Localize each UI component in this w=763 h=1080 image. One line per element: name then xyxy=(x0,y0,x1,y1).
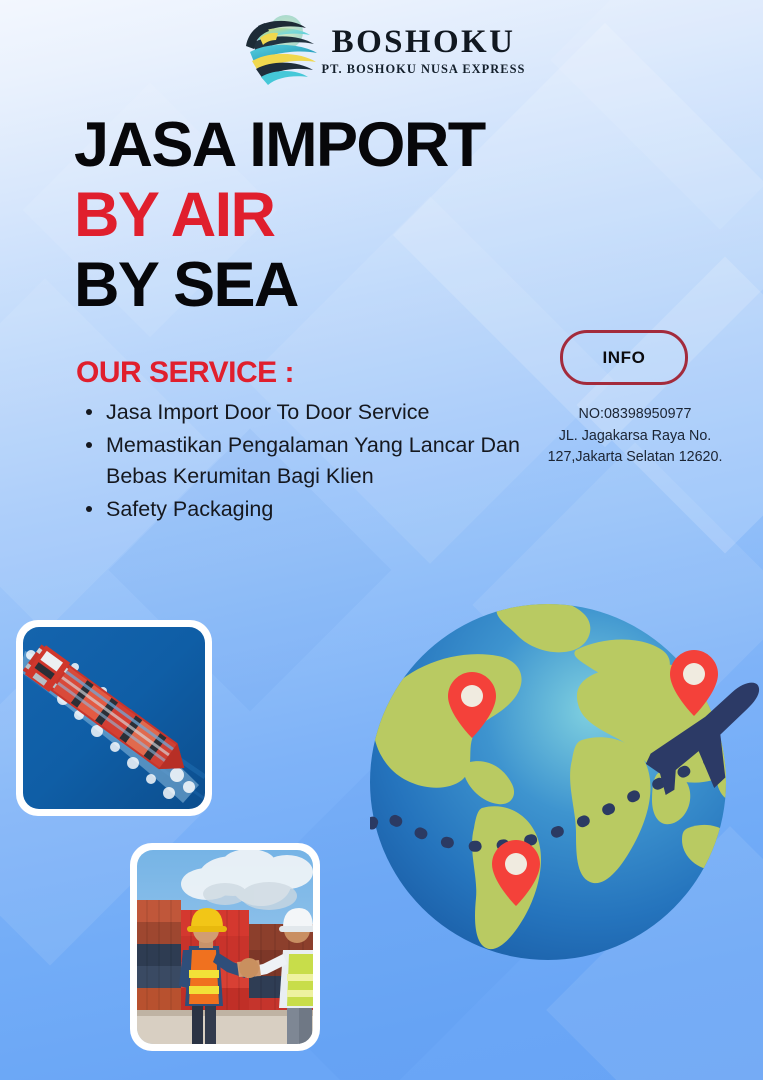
services-list: Jasa Import Door To Door Service Memasti… xyxy=(76,397,546,525)
dock-workers-photo-card xyxy=(130,843,320,1051)
contact-address-line-2: 127,Jakarta Selatan 12620. xyxy=(510,447,760,469)
list-item: Jasa Import Door To Door Service xyxy=(76,397,546,428)
container-ship-photo xyxy=(23,627,205,809)
brand-tagline: PT. BOSHOKU NUSA EXPRESS xyxy=(322,62,526,77)
headline-line-1: JASA IMPORT xyxy=(74,114,485,176)
list-item: Safety Packaging xyxy=(76,494,546,525)
contact-details: NO:08398950977 JL. Jagakarsa Raya No. 12… xyxy=(510,404,760,469)
headline-line-3: BY SEA xyxy=(74,254,485,316)
globe-illustration xyxy=(370,592,763,982)
container-ship-photo-card xyxy=(16,620,212,816)
dock-workers-photo xyxy=(137,850,313,1044)
list-item: Memastikan Pengalaman Yang Lancar Dan Be… xyxy=(76,430,546,492)
services-block: OUR SERVICE : Jasa Import Door To Door S… xyxy=(76,356,546,527)
brand-logo-text: BOSHOKU PT. BOSHOKU NUSA EXPRESS xyxy=(322,26,526,77)
services-title: OUR SERVICE : xyxy=(76,356,546,390)
contact-phone: NO:08398950977 xyxy=(510,404,760,426)
boshoku-wave-logo-icon xyxy=(238,12,320,90)
contact-address-line-1: JL. Jagakarsa Raya No. xyxy=(510,426,760,448)
info-button-label: INFO xyxy=(602,348,645,368)
headline-line-2: BY AIR xyxy=(74,184,485,246)
brand-name: BOSHOKU xyxy=(332,26,516,59)
info-button[interactable]: INFO xyxy=(560,330,688,385)
dock-workers-handshake-illustration xyxy=(137,850,313,1044)
container-ship-aerial-illustration xyxy=(23,627,205,809)
brand-logo: BOSHOKU PT. BOSHOKU NUSA EXPRESS xyxy=(0,12,763,90)
poster-canvas: BOSHOKU PT. BOSHOKU NUSA EXPRESS JASA IM… xyxy=(0,0,763,1080)
world-globe-air-route-graphic xyxy=(370,592,763,982)
headline-block: JASA IMPORT BY AIR BY SEA xyxy=(74,114,485,316)
